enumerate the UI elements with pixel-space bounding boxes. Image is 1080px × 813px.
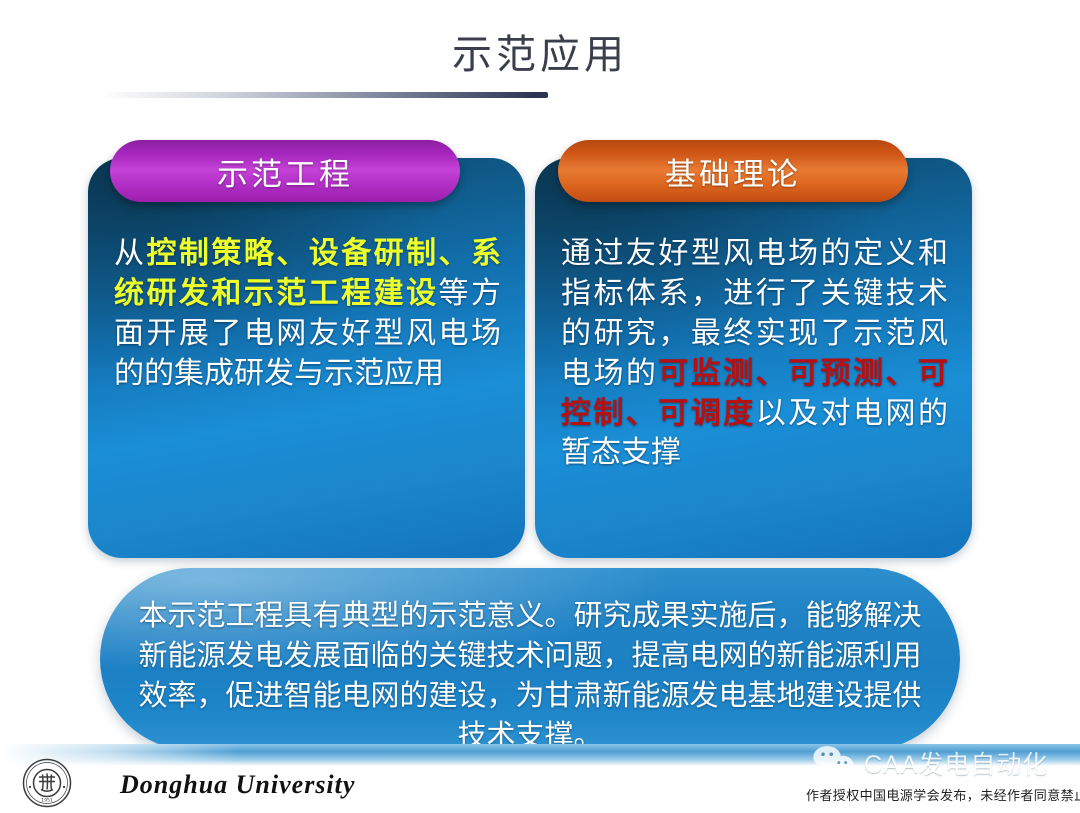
card-right-body: 通过友好型风电场的定义和指标体系，进行了关键技术的研究，最终实现了示范风电场的可… — [535, 234, 972, 473]
card-demonstration-project: 从控制策略、设备研制、系统研发和示范工程建设等方面开展了电网友好型风电场的的集成… — [88, 158, 525, 558]
card-left-text-part-1: 从 — [114, 237, 146, 270]
copyright-notice: 作者授权中国电源学会发布，未经作者同意禁止转载 — [806, 785, 1080, 804]
page-title: 示范应用 — [0, 22, 1080, 80]
university-name: Donghua University — [120, 770, 355, 800]
wechat-watermark-label: CAA发电自动化 — [864, 745, 1048, 781]
card-right-header-label: 基础理论 — [665, 149, 801, 194]
card-right-header-pill[interactable]: 基础理论 — [558, 140, 908, 202]
card-summary: 本示范工程具有典型的示范意义。研究成果实施后，能够解决新能源发电发展面临的关键技… — [100, 568, 960, 750]
card-left-header-pill[interactable]: 示范工程 — [110, 140, 460, 202]
wechat-watermark: CAA发电自动化 — [812, 744, 1048, 782]
card-left-body: 从控制策略、设备研制、系统研发和示范工程建设等方面开展了电网友好型风电场的的集成… — [88, 234, 525, 394]
card-summary-body: 本示范工程具有典型的示范意义。研究成果实施后，能够解决新能源发电发展面临的关键技… — [100, 596, 960, 756]
card-left-header-label: 示范工程 — [217, 149, 353, 194]
svg-text:1951: 1951 — [41, 798, 53, 804]
card-basic-theory: 通过友好型风电场的定义和指标体系，进行了关键技术的研究，最终实现了示范风电场的可… — [535, 158, 972, 558]
wechat-icon — [812, 744, 856, 782]
title-underline-rule — [100, 92, 548, 98]
donghua-university-seal-icon: 1951 — [22, 758, 72, 808]
